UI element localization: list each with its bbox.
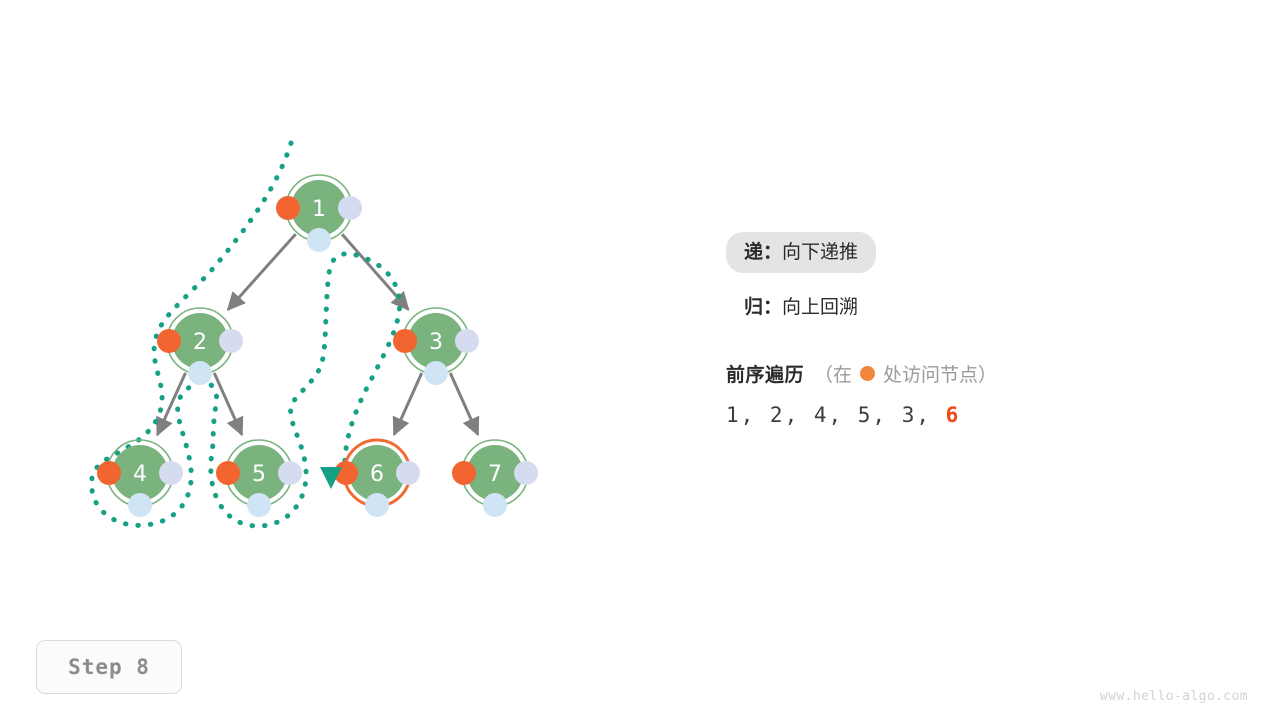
node-value-label: 1 (312, 197, 326, 222)
tree-edge (157, 373, 185, 435)
traversal-sequence-past: 1, 2, 4, 5, 3, (726, 403, 931, 427)
traversal-note-before: （在 (814, 360, 852, 387)
site-watermark: www.hello-algo.com (1100, 689, 1248, 704)
animation-canvas: 1234567 递：向下递推 归：向上回溯 前序遍历 （在 处访问节点） 1, … (0, 0, 1280, 720)
node-return-dot (188, 361, 212, 385)
tree-node-7[interactable]: 7 (452, 440, 538, 517)
node-pending-dot (278, 461, 302, 485)
legend-value-return: 向上回溯 (782, 296, 858, 318)
legend-key-recurse: 递： (744, 241, 782, 263)
node-pending-dot (455, 329, 479, 353)
traversal-title-line: 前序遍历 （在 处访问节点） (726, 360, 1266, 387)
node-visit-dot (276, 196, 300, 220)
legend-key-return: 归： (744, 296, 782, 318)
tree-node-5[interactable]: 5 (216, 440, 302, 517)
traversal-title: 前序遍历 (726, 360, 804, 387)
node-visit-dot (393, 329, 417, 353)
tree-edge (450, 373, 478, 435)
traversal-note-after: 处访问节点） (883, 360, 997, 387)
node-value-label: 2 (193, 330, 207, 355)
tree-node-3[interactable]: 3 (393, 308, 479, 385)
visit-marker-icon (860, 366, 875, 381)
node-return-dot (307, 228, 331, 252)
node-visit-dot (157, 329, 181, 353)
node-value-label: 5 (252, 462, 266, 487)
legend-row-recurse: 递：向下递推 (726, 232, 876, 273)
node-visit-dot (452, 461, 476, 485)
traversal-order-block: 前序遍历 （在 处访问节点） 1, 2, 4, 5, 3, 6 (726, 360, 1266, 427)
tree-edge (214, 373, 242, 435)
node-pending-dot (219, 329, 243, 353)
node-value-label: 4 (133, 462, 147, 487)
node-visit-dot (216, 461, 240, 485)
tree-edge (228, 234, 296, 310)
node-value-label: 3 (429, 330, 443, 355)
node-return-dot (128, 493, 152, 517)
legend-panel: 递：向下递推 归：向上回溯 (726, 232, 1246, 342)
node-pending-dot (396, 461, 420, 485)
tree-edge (394, 373, 422, 435)
tree-node-4[interactable]: 4 (97, 440, 183, 517)
node-return-dot (365, 493, 389, 517)
node-pending-dot (338, 196, 362, 220)
traversal-sequence-current: 6 (946, 403, 961, 427)
node-return-dot (424, 361, 448, 385)
legend-value-recurse: 向下递推 (782, 241, 858, 263)
node-pending-dot (514, 461, 538, 485)
node-visit-dot (97, 461, 121, 485)
tree-node-2[interactable]: 2 (157, 308, 243, 385)
traversal-sequence: 1, 2, 4, 5, 3, 6 (726, 403, 1266, 427)
node-pending-dot (159, 461, 183, 485)
node-return-dot (247, 493, 271, 517)
node-return-dot (483, 493, 507, 517)
step-badge: Step 8 (36, 640, 182, 694)
node-value-label: 6 (370, 462, 384, 487)
node-value-label: 7 (488, 462, 502, 487)
legend-row-return: 归：向上回溯 (726, 287, 876, 328)
tree-nodes: 1234567 (97, 175, 538, 517)
